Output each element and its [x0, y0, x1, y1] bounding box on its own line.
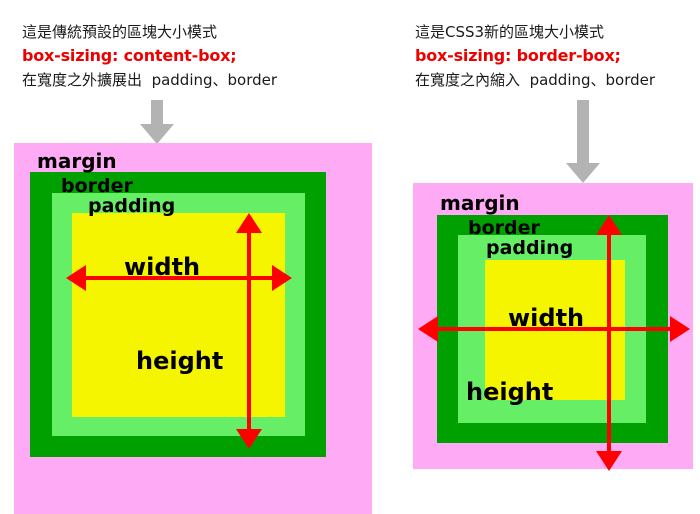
width-arrow-head-right — [670, 316, 690, 342]
width-arrow-head-left — [418, 316, 438, 342]
right-caption-line-3-a: 在寬度之內縮入 — [415, 71, 520, 89]
border-label: border — [468, 217, 540, 239]
right-caption-line-3: 在寬度之內縮入 padding、border — [415, 68, 655, 92]
content-layer — [72, 213, 285, 417]
padding-label: padding — [486, 237, 573, 259]
height-arrow-head-bottom — [236, 429, 262, 449]
height-arrow-head-top — [596, 215, 622, 235]
height-arrow-head-top — [236, 213, 262, 233]
left-arrow-head — [140, 124, 174, 144]
left-caption-block: 這是傳統預設的區塊大小模式 box-sizing: content-box; 在… — [22, 20, 277, 92]
right-arrow-head — [566, 163, 600, 183]
left-arrow-shaft — [151, 100, 163, 125]
left-caption-line-3-b: padding、border — [152, 71, 277, 89]
padding-label: padding — [88, 195, 175, 217]
border-box-diagram: margin border padding width height — [413, 183, 693, 469]
height-label: height — [136, 347, 223, 375]
width-label: width — [124, 253, 200, 281]
margin-label: margin — [440, 191, 520, 215]
left-caption-line-1: 這是傳統預設的區塊大小模式 — [22, 20, 277, 44]
left-caption-line-3-a: 在寬度之外擴展出 — [22, 71, 142, 89]
left-caption-line-3: 在寬度之外擴展出 padding、border — [22, 68, 277, 92]
right-caption-code: box-sizing: border-box; — [415, 44, 655, 68]
right-arrow-shaft — [577, 100, 589, 164]
content-box-diagram: margin border padding width height — [14, 143, 372, 514]
border-label: border — [61, 175, 133, 197]
height-label: height — [466, 378, 553, 406]
diagram-canvas: 這是傳統預設的區塊大小模式 box-sizing: content-box; 在… — [0, 0, 700, 514]
height-arrow-head-bottom — [596, 451, 622, 471]
right-caption-block: 這是CSS3新的區塊大小模式 box-sizing: border-box; 在… — [415, 20, 655, 92]
right-down-arrow-icon — [565, 100, 601, 184]
left-down-arrow-icon — [139, 100, 175, 144]
right-caption-line-3-b: padding、border — [530, 71, 655, 89]
width-arrow-head-left — [66, 265, 86, 291]
width-label: width — [508, 304, 584, 332]
height-measure-line — [607, 235, 611, 451]
height-measure-line — [247, 233, 251, 429]
right-caption-line-1: 這是CSS3新的區塊大小模式 — [415, 20, 655, 44]
margin-label: margin — [37, 149, 117, 173]
left-caption-code: box-sizing: content-box; — [22, 44, 277, 68]
width-arrow-head-right — [272, 265, 292, 291]
